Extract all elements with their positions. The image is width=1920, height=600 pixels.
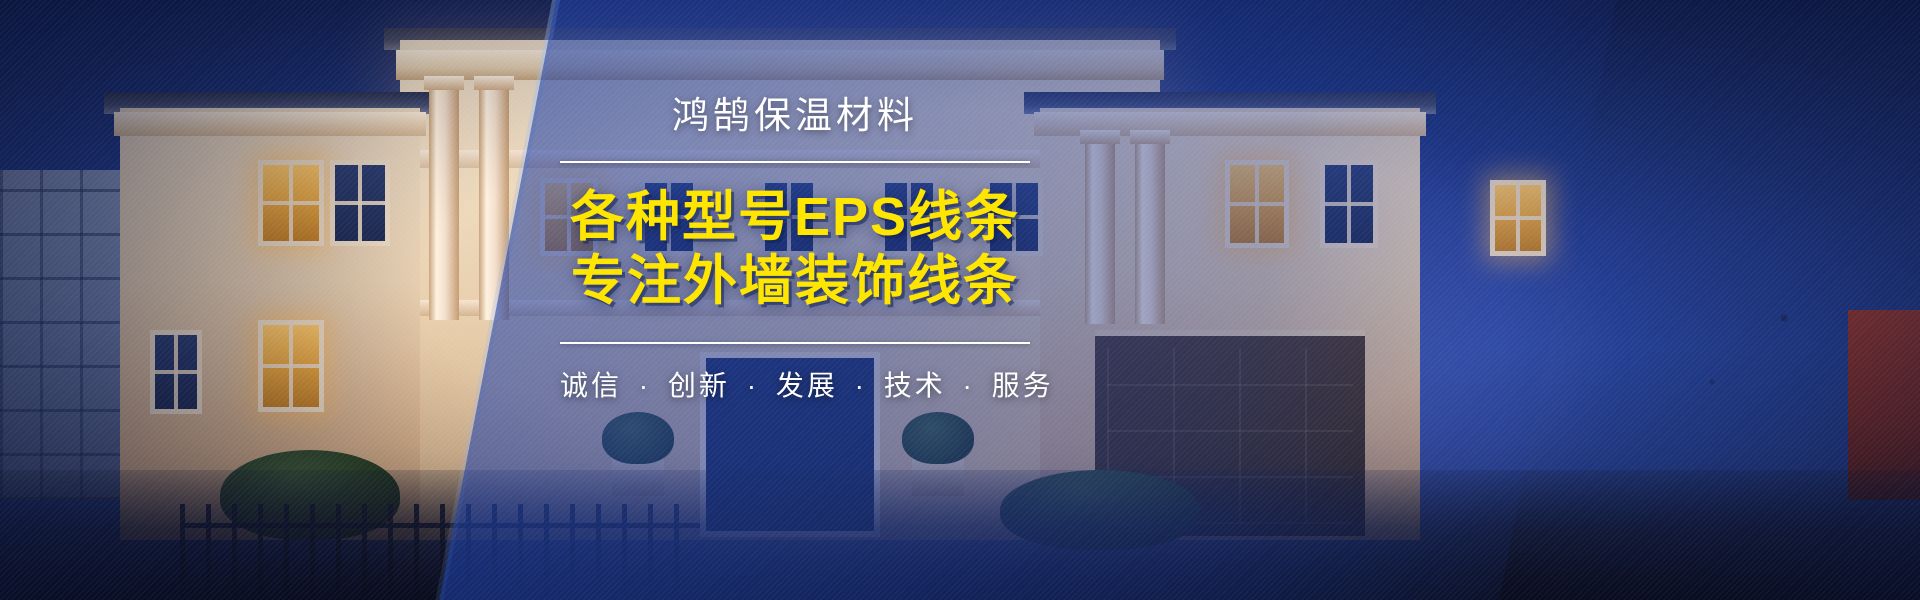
tagline-item-4: 服务 [992,370,1054,401]
divider-bottom [560,342,1030,344]
tagline-separator: · [639,370,651,401]
divider-top [560,161,1030,163]
headline-line-2: 专注外墙装饰线条 [560,249,1030,314]
headline: 各种型号EPS线条 专注外墙装饰线条 [560,185,1030,315]
tagline-separator: · [747,370,759,401]
tagline-item-3: 技术 [884,370,946,401]
tagline: 诚信 · 创新 · 发展 · 技术 · 服务 [560,364,1030,404]
promo-banner: 鸿鹄保温材料 各种型号EPS线条 专注外墙装饰线条 诚信 · 创新 · 发展 ·… [0,0,1920,600]
tagline-item-0: 诚信 [560,370,622,401]
tagline-separator: · [963,370,975,401]
headline-line-1: 各种型号EPS线条 [560,185,1030,250]
tagline-item-2: 发展 [776,370,838,401]
brand-name: 鸿鹄保温材料 [560,96,1030,137]
tagline-item-1: 创新 [668,370,730,401]
tagline-separator: · [855,370,867,401]
banner-text-block: 鸿鹄保温材料 各种型号EPS线条 专注外墙装饰线条 诚信 · 创新 · 发展 ·… [560,96,1030,404]
